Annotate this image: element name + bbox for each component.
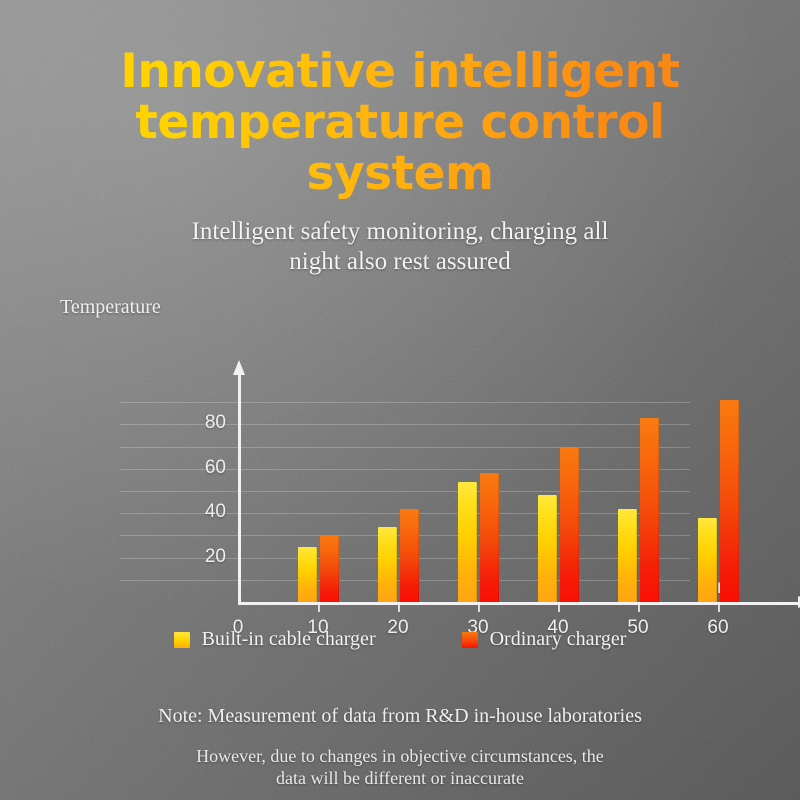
gridline: [120, 491, 690, 492]
bar: [538, 495, 557, 602]
y-tick-label: 80: [182, 412, 226, 434]
poster-canvas: Innovative intelligent temperature contr…: [0, 0, 800, 800]
legend-item-label: Ordinary charger: [490, 628, 627, 651]
bar: [458, 482, 477, 602]
y-tick-label: 20: [182, 546, 226, 568]
note-sub-line-2: data will be different or inaccurate: [0, 767, 800, 789]
plot-region: 20406080 0102030405060: [120, 336, 690, 563]
y-axis-line: [238, 373, 241, 604]
legend-item[interactable]: Ordinary charger: [462, 628, 627, 651]
y-tick-label: 60: [182, 457, 226, 479]
legend-swatch-icon: [462, 632, 478, 648]
bar: [298, 547, 317, 603]
footnotes: Note: Measurement of data from R&D in-ho…: [0, 705, 800, 789]
x-tick-mark: [558, 605, 560, 612]
page-title: Innovative intelligent temperature contr…: [0, 46, 800, 199]
chart-legend: Built-in cable chargerOrdinary charger: [0, 628, 800, 651]
note-main: Note: Measurement of data from R&D in-ho…: [0, 705, 800, 728]
bar: [618, 509, 637, 602]
gridline: [120, 447, 690, 448]
bar: [400, 509, 419, 602]
x-tick-mark: [398, 605, 400, 612]
x-axis-line: [238, 602, 800, 605]
bar: [720, 400, 739, 602]
note-sub-line-1: However, due to changes in objective cir…: [0, 745, 800, 767]
bar-chart: Temperature Min 20406080 0102030405060: [0, 296, 800, 616]
subtitle-line-1: Intelligent safety monitoring, charging …: [0, 217, 800, 247]
y-axis-title: Temperature: [60, 296, 161, 319]
title-line-1: Innovative intelligent: [120, 44, 679, 99]
bar: [698, 518, 717, 602]
bar: [320, 535, 339, 602]
page-subtitle: Intelligent safety monitoring, charging …: [0, 217, 800, 277]
legend-item[interactable]: Built-in cable charger: [174, 628, 376, 651]
x-tick-mark: [718, 605, 720, 612]
note-sub: However, due to changes in objective cir…: [0, 745, 800, 789]
x-tick-mark: [318, 605, 320, 612]
bar: [480, 473, 499, 602]
x-tick-mark: [478, 605, 480, 612]
gridline: [120, 402, 690, 403]
bar: [560, 447, 579, 602]
title-line-2: temperature control system: [40, 97, 760, 199]
legend-swatch-icon: [174, 632, 190, 648]
y-axis-arrow-icon: [233, 360, 245, 375]
subtitle-line-2: night also rest assured: [0, 247, 800, 277]
legend-item-label: Built-in cable charger: [202, 628, 376, 651]
bar: [378, 527, 397, 602]
x-tick-mark: [638, 605, 640, 612]
bar: [640, 418, 659, 602]
poster-header: Innovative intelligent temperature contr…: [0, 46, 800, 277]
y-tick-label: 40: [182, 501, 226, 523]
